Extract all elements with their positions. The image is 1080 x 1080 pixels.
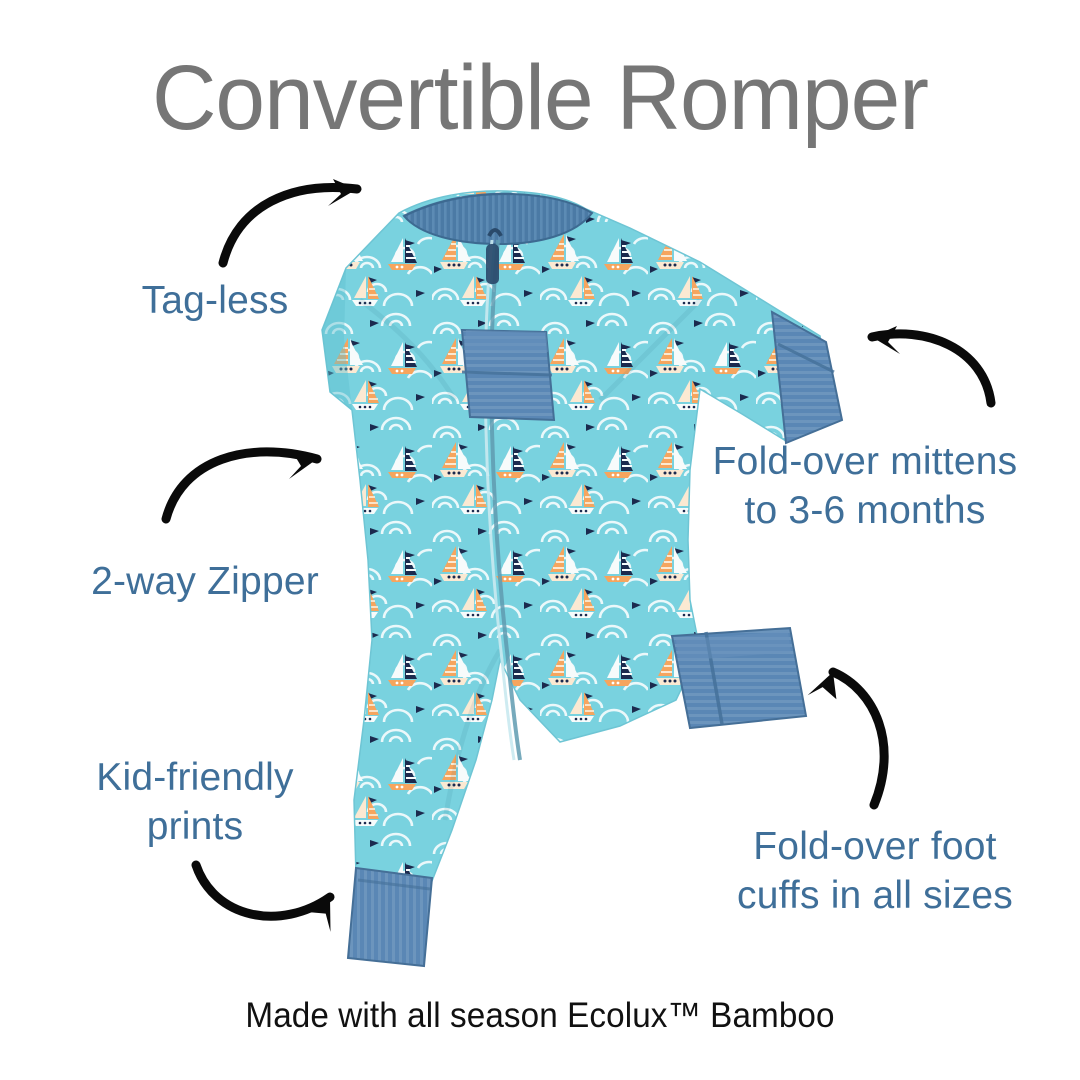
infographic-page: Convertible Romper — [0, 0, 1080, 1080]
feature-label-kid-friendly-prints: Kid-friendly prints — [20, 753, 370, 851]
zipper-pull — [486, 244, 499, 284]
feature-label-zipper: 2-way Zipper — [20, 557, 390, 606]
left-sleeve-cuff-mitten — [462, 330, 554, 420]
right-leg-foot-cuff — [672, 628, 806, 728]
left-leg-foot-cuff — [348, 868, 432, 966]
bottom-caption: Made with all season Ecolux™ Bamboo — [27, 995, 1053, 1037]
feature-label-tagless: Tag-less — [40, 276, 390, 325]
feature-label-fold-over-mittens: Fold-over mittens to 3-6 months — [660, 437, 1070, 535]
romper-body — [322, 191, 832, 886]
feature-label-fold-over-foot-cuffs: Fold-over foot cuffs in all sizes — [680, 822, 1070, 920]
